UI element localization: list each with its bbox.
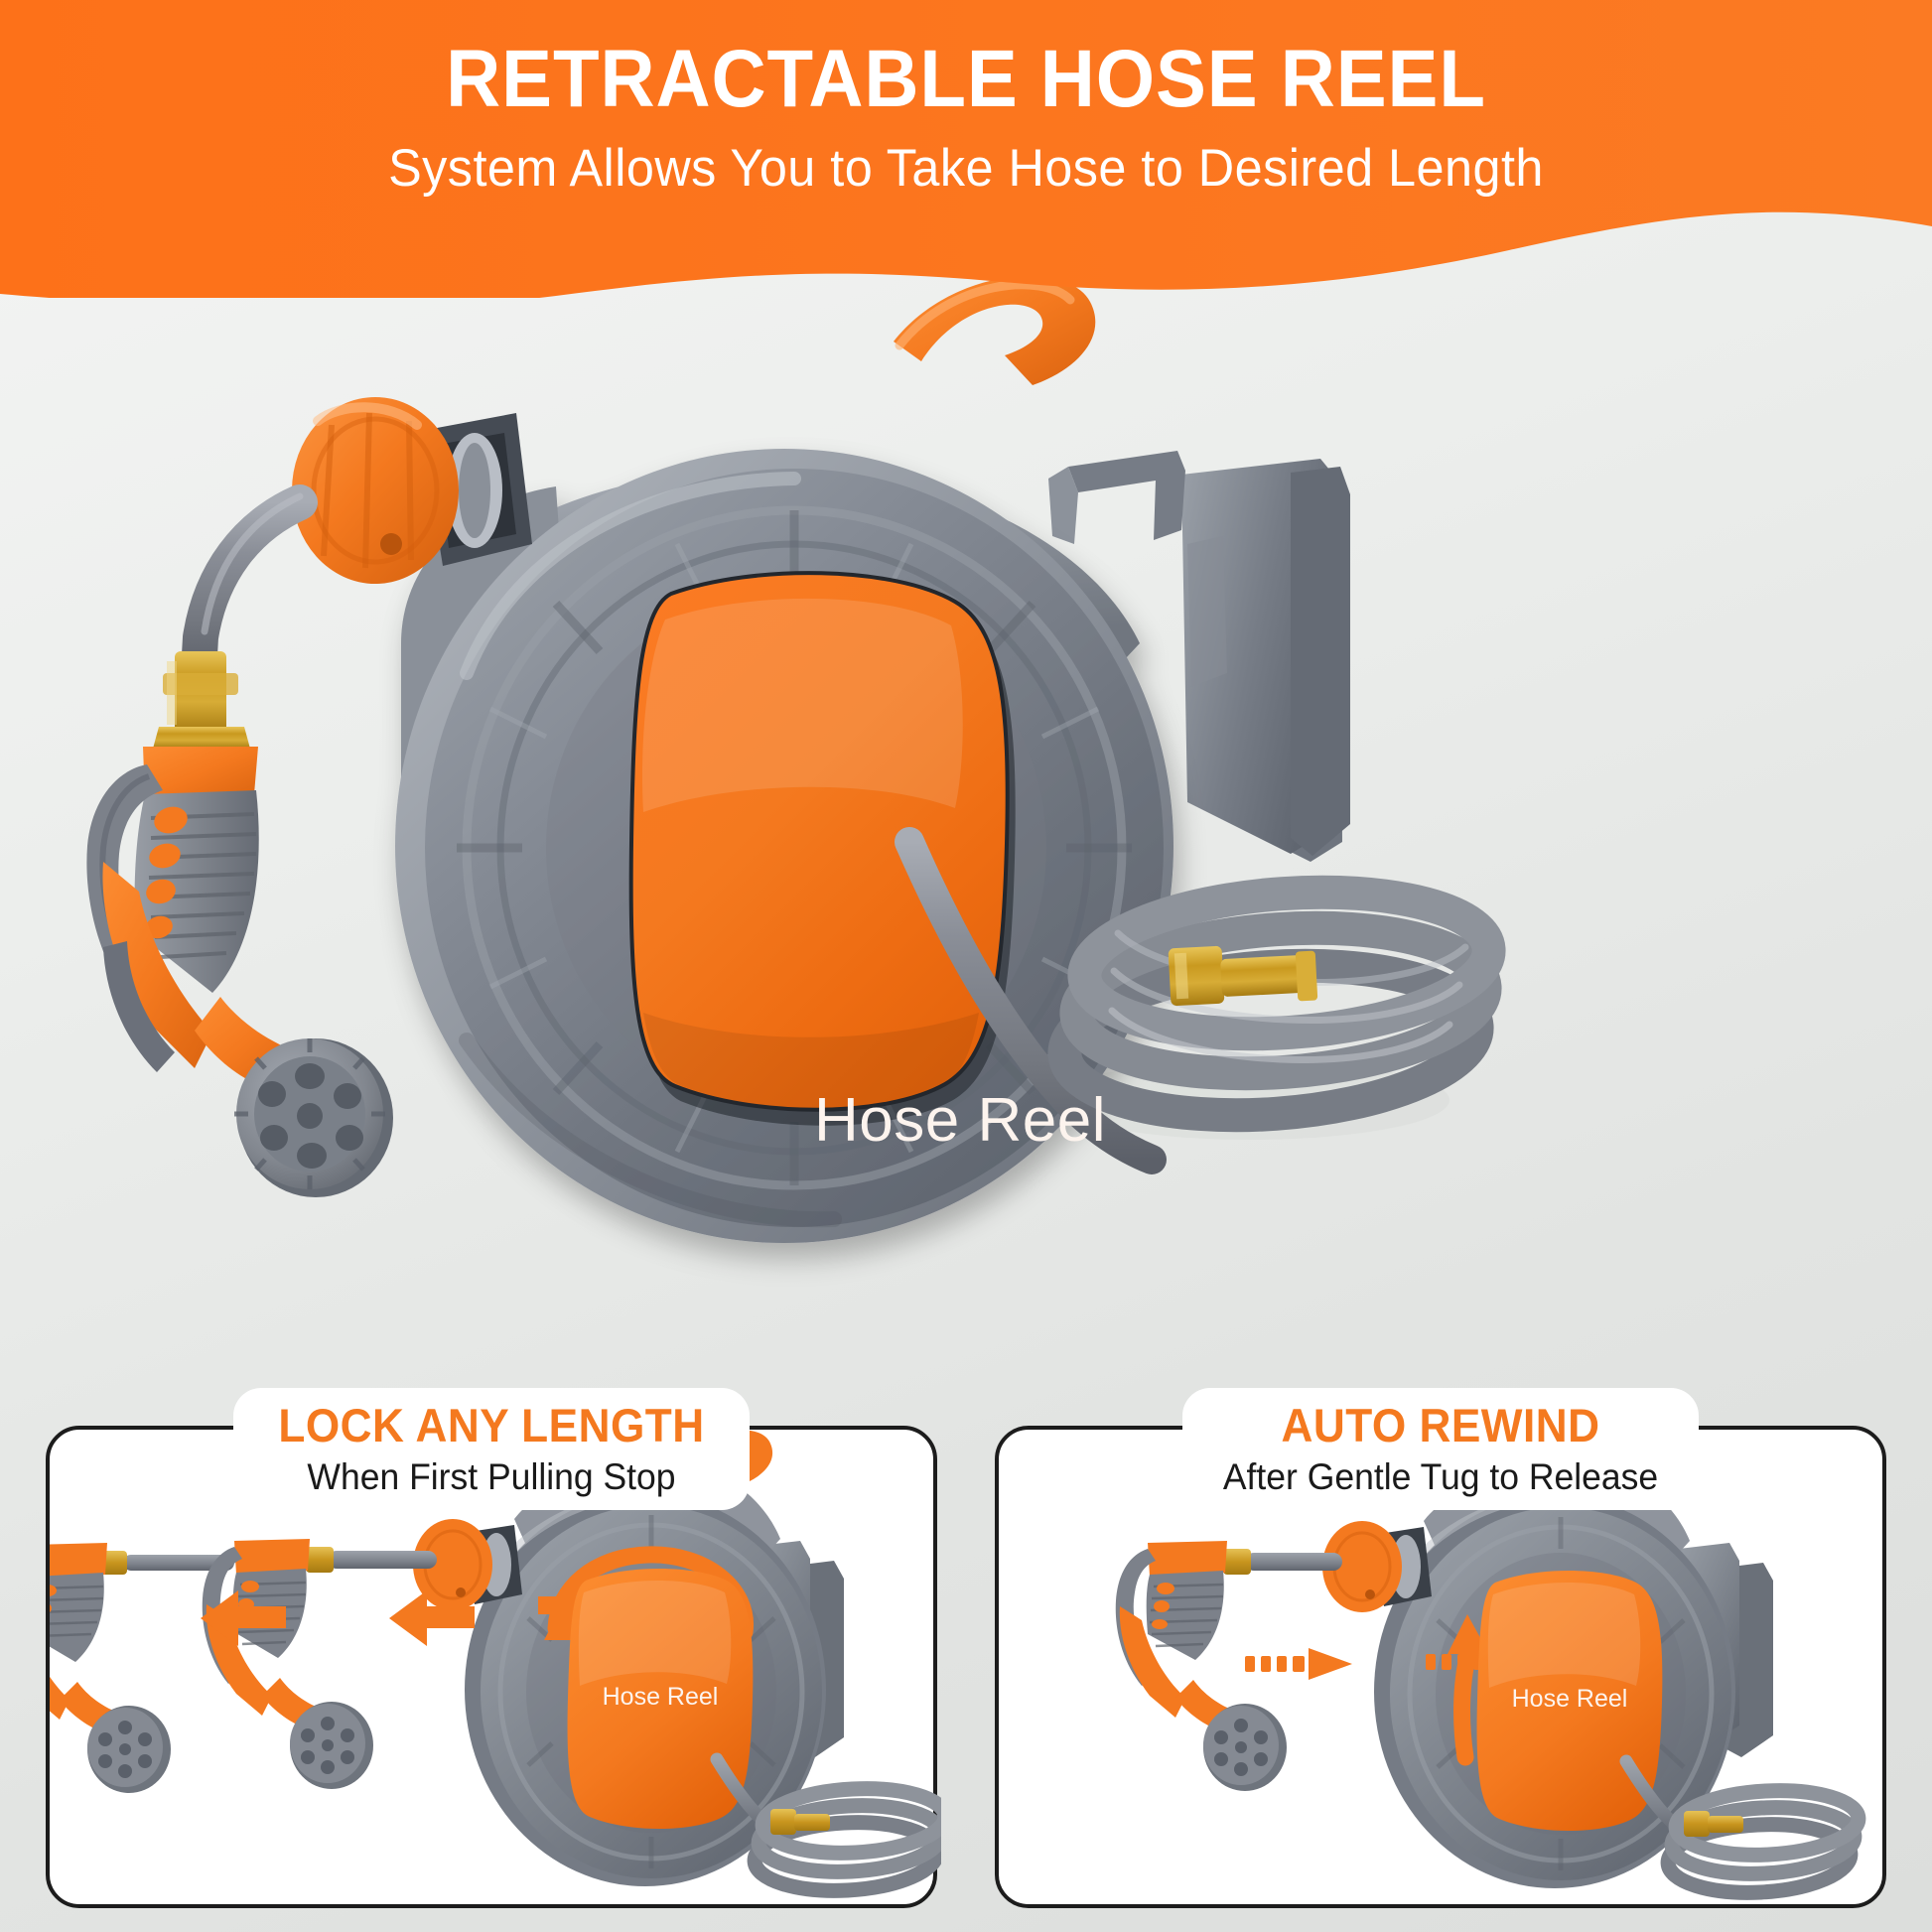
panel-title-lock-any-length: LOCK ANY LENGTH bbox=[249, 1400, 735, 1452]
mini-reel-badge bbox=[568, 1569, 754, 1829]
nozzle-spray-head bbox=[234, 1038, 393, 1197]
page-title: RETRACTABLE HOSE REEL bbox=[68, 36, 1864, 124]
panel-title-auto-rewind: AUTO REWIND bbox=[1198, 1400, 1684, 1452]
hero-product-illustration bbox=[0, 246, 1932, 1368]
panel-tab-auto-rewind: AUTO REWIND After Gentle Tug to Release bbox=[1182, 1388, 1699, 1510]
brass-connector bbox=[153, 651, 250, 749]
feature-panel-auto-rewind: Hose Reel AUTO REWIND After Gentle Tug t… bbox=[995, 1426, 1886, 1908]
feature-panel-lock-any-length: Hose Reel LOCK ANY LENGTH When First Pul… bbox=[46, 1426, 937, 1908]
panel-subtitle-lock-any-length: When First Pulling Stop bbox=[243, 1456, 739, 1499]
panel-subtitle-auto-rewind: After Gentle Tug to Release bbox=[1192, 1456, 1688, 1499]
reel-center-badge bbox=[631, 573, 1016, 1126]
hero-product-image: Hose Reel bbox=[0, 246, 1932, 1368]
mini-nozzle-mid bbox=[203, 1539, 373, 1789]
spray-nozzle bbox=[86, 747, 393, 1197]
header-banner: RETRACTABLE HOSE REEL System Allows You … bbox=[0, 0, 1932, 298]
page-subtitle: System Allows You to Take Hose to Desire… bbox=[49, 138, 1884, 199]
feature-panels: Hose Reel LOCK ANY LENGTH When First Pul… bbox=[0, 1398, 1932, 1932]
mini-reel-badge bbox=[1477, 1571, 1663, 1831]
product-infographic: RETRACTABLE HOSE REEL System Allows You … bbox=[0, 0, 1932, 1932]
panel-tab-lock-any-length: LOCK ANY LENGTH When First Pulling Stop bbox=[233, 1388, 750, 1510]
rewind-arrow-1 bbox=[1245, 1648, 1352, 1680]
mini-nozzle-left bbox=[50, 1543, 171, 1793]
lead-hose bbox=[199, 496, 300, 673]
